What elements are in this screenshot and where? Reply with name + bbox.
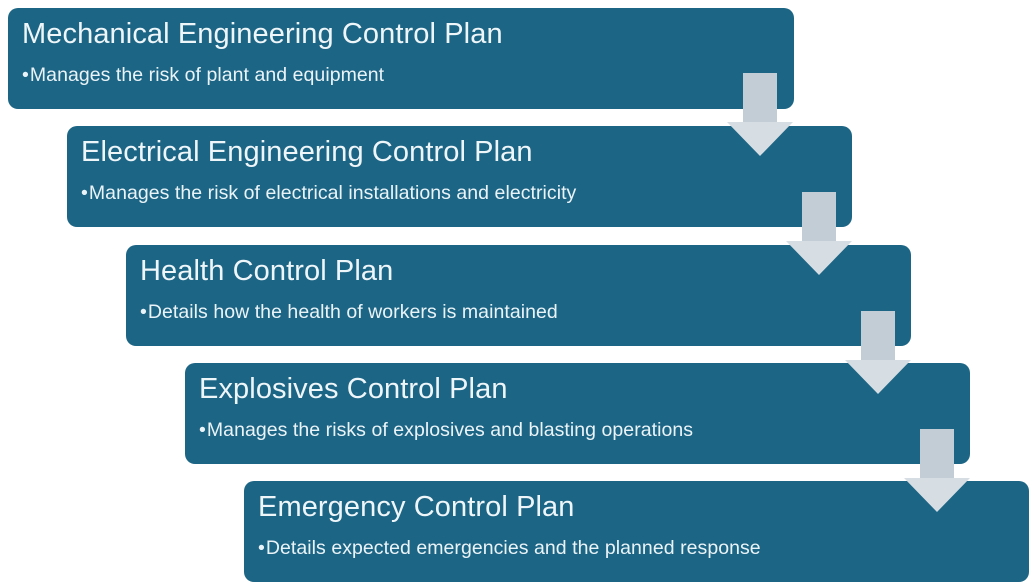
step-bullet: •Details expected emergencies and the pl… [258,535,1015,561]
diagram-canvas: Mechanical Engineering Control Plan •Man… [0,0,1035,588]
step-bullet-text: Manages the risks of explosives and blas… [207,419,693,441]
bullet-marker-icon: • [81,180,88,206]
step-bullet: •Manages the risks of explosives and bla… [199,417,956,443]
step-bullet-text: Manages the risk of plant and equipment [30,64,384,86]
down-arrow-icon [727,73,793,156]
step-title: Health Control Plan [140,251,897,291]
bullet-marker-icon: • [140,299,147,325]
step-bullet-text: Manages the risk of electrical installat… [89,182,576,204]
step-bullet: •Manages the risk of electrical installa… [81,180,838,206]
down-arrow-icon [786,192,852,275]
step-bullet-text: Details how the health of workers is mai… [148,301,558,323]
step-bullet-text: Details expected emergencies and the pla… [266,537,761,559]
bullet-marker-icon: • [258,535,265,561]
process-step-mechanical-engineering-control-plan[interactable]: Mechanical Engineering Control Plan •Man… [8,8,794,109]
step-title: Electrical Engineering Control Plan [81,132,838,172]
down-arrow-icon [904,429,970,512]
down-arrow-icon [845,311,911,394]
step-bullet: •Manages the risk of plant and equipment [22,62,780,88]
step-title: Mechanical Engineering Control Plan [22,14,780,54]
step-title: Emergency Control Plan [258,487,1015,527]
step-title: Explosives Control Plan [199,369,956,409]
bullet-marker-icon: • [199,417,206,443]
bullet-marker-icon: • [22,62,29,88]
step-bullet: •Details how the health of workers is ma… [140,299,897,325]
